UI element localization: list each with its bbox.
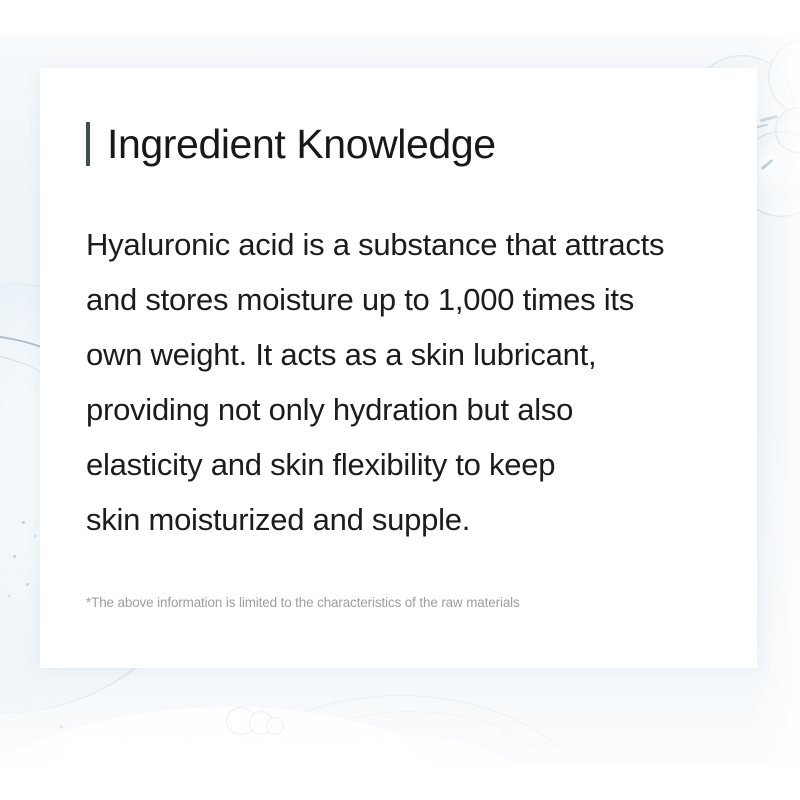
bubble-icon [266,717,284,735]
sparkle-dot [8,595,10,597]
content-card: Ingredient Knowledge Hyaluronic acid is … [40,68,757,668]
right-edge-sheen [754,35,800,765]
sparkle-dot [22,521,25,524]
disclaimer-footnote: *The above information is limited to the… [86,595,520,610]
body-line: skin moisturized and supple. [86,492,746,547]
sparkle-dot [60,725,63,728]
body-copy: Hyaluronic acid is a substance that attr… [86,217,746,547]
page-title: Ingredient Knowledge [107,124,496,165]
title-accent-bar-icon [86,122,90,166]
sparkle-dot [13,555,16,558]
card-title-row: Ingredient Knowledge [86,122,496,166]
sparkle-dot [26,583,29,586]
body-line: own weight. It acts as a skin lubricant, [86,327,746,382]
body-line: and stores moisture up to 1,000 times it… [86,272,746,327]
product-info-graphic: Ingredient Knowledge Hyaluronic acid is … [0,0,800,800]
sparkle-dot [34,535,36,537]
body-line: Hyaluronic acid is a substance that attr… [86,217,746,272]
body-line: providing not only hydration but also [86,382,746,437]
body-line: elasticity and skin flexibility to keep [86,437,746,492]
